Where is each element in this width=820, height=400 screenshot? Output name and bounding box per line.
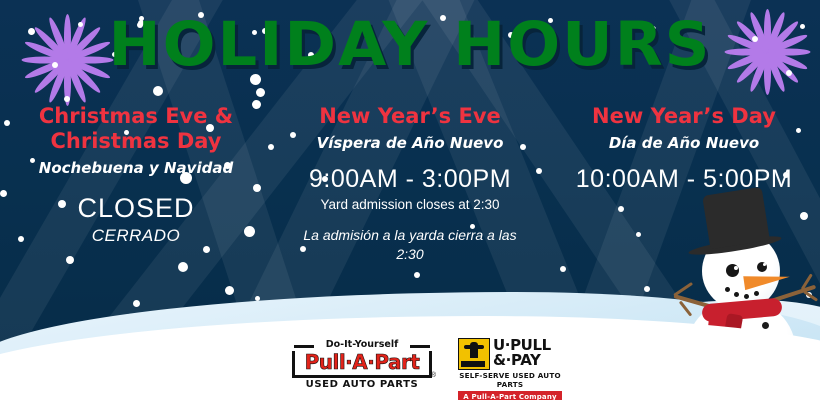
column-title: New Year’s Eve	[272, 104, 548, 129]
snowflake	[64, 96, 70, 102]
snowman-hat-crown	[702, 187, 770, 250]
column-new-years-day: New Year’s Day Día de Año Nuevo 10:00AM …	[548, 104, 820, 194]
snowman-button	[762, 322, 769, 329]
snowman-eye-highlight	[734, 266, 738, 270]
column-title-line1: Christmas Eve &	[0, 104, 272, 129]
snowflake	[153, 86, 163, 96]
column-status-es: CERRADO	[0, 226, 272, 246]
pull-a-part-tagline: Do-It-Yourself	[292, 339, 432, 351]
column-christmas: Christmas Eve & Christmas Day Nochebuena…	[0, 104, 272, 246]
person-badge-icon	[458, 338, 490, 370]
snowman-arm-left-twig	[673, 282, 693, 297]
column-hours: 9:00AM - 3:00PM	[272, 165, 548, 194]
pull-a-part-wordmark: Pull·A·Part	[295, 352, 429, 373]
column-note-es: La admisión a la yarda cierra a las 2:30	[272, 226, 548, 264]
column-new-years-eve: New Year’s Eve Víspera de Año Nuevo 9:00…	[272, 104, 548, 264]
column-status: CLOSED	[0, 193, 272, 224]
snowman-arm-right-twig	[803, 290, 818, 301]
holiday-hours-banner: HOLIDAY HOURS Christmas Eve & Christmas …	[0, 0, 820, 400]
badge-bar	[461, 361, 485, 367]
snowman-eye-highlight	[763, 263, 766, 266]
pull-a-part-subline: USED AUTO PARTS	[292, 379, 432, 390]
logo-bar: Do-It-Yourself Pull·A·Part USED AUTO PAR…	[0, 336, 820, 396]
column-subtitle-es: Día de Año Nuevo	[548, 134, 820, 152]
u-pull-and-pay-row: U·PULL &·PAY	[458, 338, 562, 370]
page-title: HOLIDAY HOURS	[0, 14, 820, 75]
person-figure-icon	[470, 342, 478, 358]
column-title-line2: Christmas Day	[0, 129, 272, 154]
snowflake	[256, 88, 265, 97]
u-pull-and-pay-tagline: SELF-SERVE USED AUTO PARTS	[458, 371, 562, 389]
column-note: Yard admission closes at 2:30	[272, 197, 548, 212]
snowman-mouth-dot	[744, 294, 749, 299]
u-pull-and-pay-ribbon: A Pull-A-Part Company	[458, 391, 562, 400]
column-subtitle-es: Víspera de Año Nuevo	[272, 134, 548, 152]
registered-mark-icon: ®	[431, 372, 436, 379]
u-pull-and-pay-wordmark: U·PULL &·PAY	[493, 338, 551, 367]
snowman-mouth-dot	[725, 287, 730, 292]
pull-a-part-box: Pull·A·Part	[292, 351, 432, 378]
u-pull-and-pay-line2: &·PAY	[493, 353, 551, 368]
column-subtitle-es: Nochebuena y Navidad	[0, 159, 272, 177]
column-title: Christmas Eve & Christmas Day	[0, 104, 272, 154]
u-pull-and-pay-logo[interactable]: U·PULL &·PAY SELF-SERVE USED AUTO PARTS …	[458, 338, 562, 400]
column-hours: 10:00AM - 5:00PM	[548, 165, 820, 194]
snowman-mouth-dot	[734, 292, 739, 297]
snowman-mouth-dot	[754, 291, 759, 296]
pull-a-part-logo[interactable]: Do-It-Yourself Pull·A·Part USED AUTO PAR…	[292, 339, 432, 390]
column-title: New Year’s Day	[548, 104, 820, 129]
